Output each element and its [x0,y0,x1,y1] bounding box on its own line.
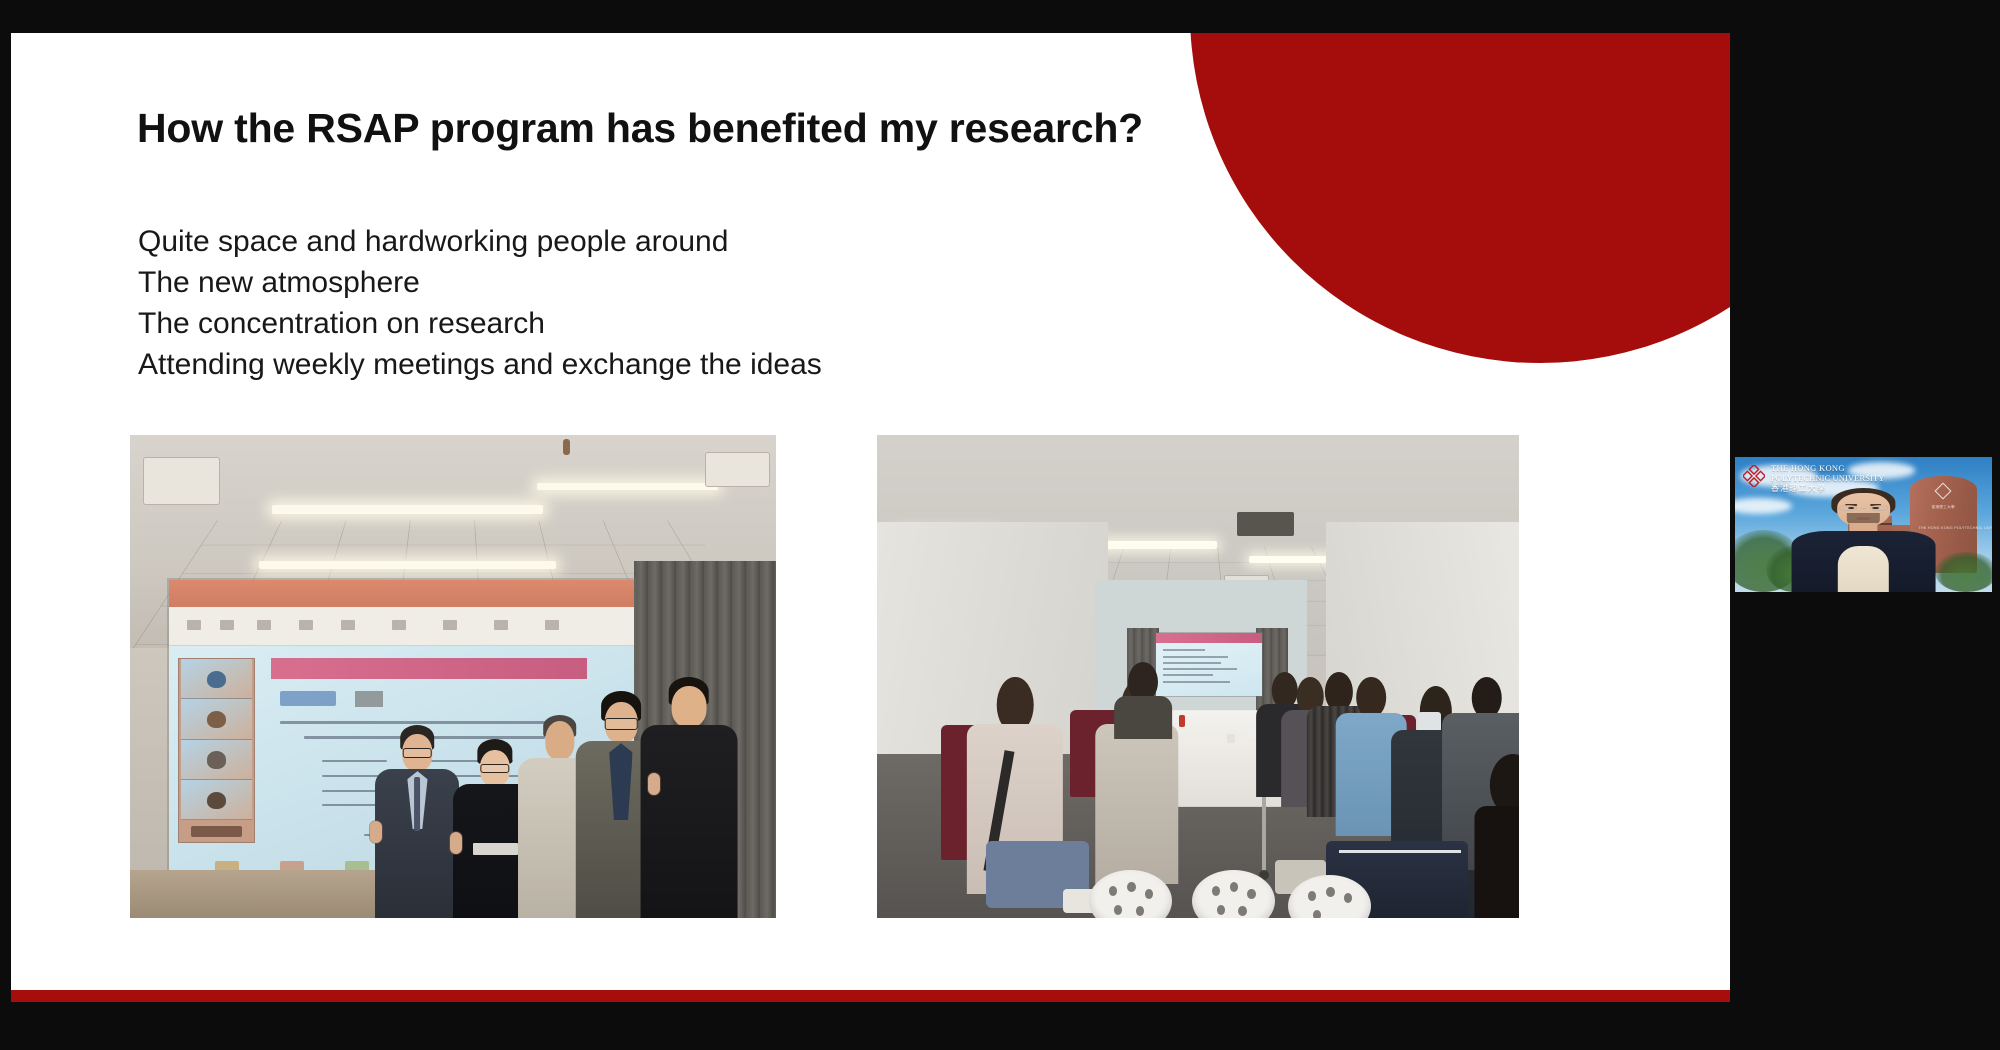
person-figure [1474,754,1519,918]
participant-name-label [191,826,242,837]
projector-unit [143,457,221,505]
eyeglasses-icon [1839,505,1857,510]
person-figure [640,677,737,919]
presenter-figure [1735,481,1992,592]
list-item: Attending weekly meetings and exchange t… [138,344,822,385]
bullet-list: Quite space and hardworking people aroun… [138,221,822,385]
eyeglasses-icon [1870,505,1888,510]
wordmark-line-1: THE HONG KONG [1771,463,1885,473]
ceiling-air-vent [1237,512,1295,536]
slide-header-band [271,658,587,679]
shirt [1838,546,1889,592]
mouth [1857,517,1871,520]
face [1837,493,1890,526]
corner-decoration-shape [1190,33,1730,363]
desk-surface [130,870,401,918]
photo-phd-defense [130,435,776,918]
screen-share-stage: How the RSAP program has benefited my re… [0,0,2000,1050]
presentation-slide[interactable]: How the RSAP program has benefited my re… [11,33,1730,1002]
hoodie-brand-text [473,843,518,856]
list-item: The new atmosphere [138,262,822,303]
university-seal [355,691,383,707]
institution-logo [280,691,336,706]
photo-weekly-meeting [877,435,1519,918]
smoke-detector-icon [563,439,570,455]
ceiling-light [259,561,556,569]
list-item: The concentration on research [138,303,822,344]
person-figure [375,725,459,918]
ceiling-light [537,483,718,490]
person-figure [1115,662,1173,739]
ceiling-vent [705,452,770,487]
page-title: How the RSAP program has benefited my re… [137,105,1143,152]
list-item: Quite space and hardworking people aroun… [138,221,822,262]
powerpoint-titlebar [169,580,634,607]
drink-cup [1179,715,1185,727]
powerpoint-ribbon-toolbar [169,607,634,646]
video-participant-strip [178,658,255,844]
ceiling-light [272,505,543,514]
slide-footer-bar [11,990,1730,1002]
presenter-video-tile[interactable]: 香港理工大學 THE HONG KONG POLYTECHNIC UNIVERS… [1735,457,1992,592]
paper-cup [1227,734,1235,743]
